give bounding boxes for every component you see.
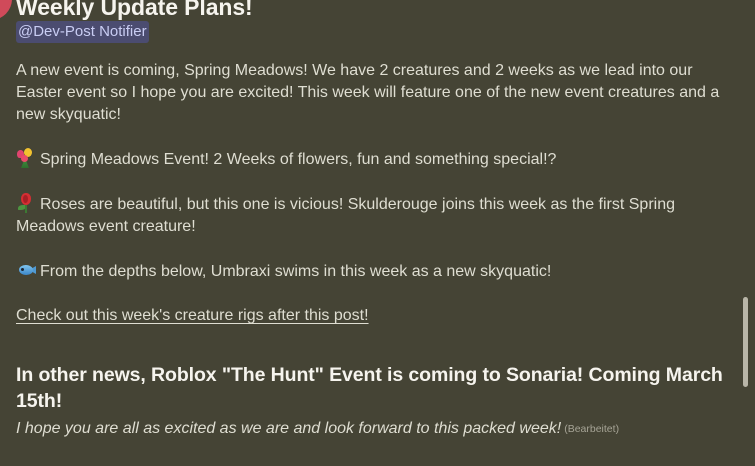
message-view: Weekly Update Plans! @Dev-Post Notifier … [0, 0, 755, 466]
edited-badge: (Bearbeitet) [564, 423, 619, 435]
closing-line-row: I hope you are all as excited as we are … [16, 418, 735, 440]
mention-row: @Dev-Post Notifier [16, 21, 735, 43]
section-heading-the-hunt: In other news, Roblox "The Hunt" Event i… [16, 362, 735, 414]
page-title: Weekly Update Plans! [16, 0, 735, 20]
rose-emoji [16, 193, 36, 213]
fish-emoji [16, 260, 36, 280]
bullet-umbraxi: From the depths below, Umbraxi swims in … [16, 260, 735, 283]
intro-paragraph: A new event is coming, Spring Meadows! W… [16, 60, 735, 126]
closing-line-text: I hope you are all as excited as we are … [16, 420, 561, 437]
mention-dev-post-notifier[interactable]: @Dev-Post Notifier [16, 21, 149, 43]
bouquet-emoji [16, 148, 36, 168]
message-content: Weekly Update Plans! @Dev-Post Notifier … [0, 0, 755, 440]
bullet-text: From the depths below, Umbraxi swims in … [40, 263, 551, 280]
bullet-text: Spring Meadows Event! 2 Weeks of flowers… [40, 151, 556, 168]
scrollbar-thumb[interactable] [743, 297, 748, 387]
bullet-text: Roses are beautiful, but this one is vic… [16, 196, 675, 235]
bullet-spring-meadows: Spring Meadows Event! 2 Weeks of flowers… [16, 148, 735, 171]
bullet-skulderouge: Roses are beautiful, but this one is vic… [16, 193, 735, 238]
creature-rigs-link[interactable]: Check out this week's creature rigs afte… [16, 307, 369, 324]
creature-rigs-link-row: Check out this week's creature rigs afte… [16, 305, 735, 327]
scrollbar-track[interactable] [742, 0, 752, 466]
